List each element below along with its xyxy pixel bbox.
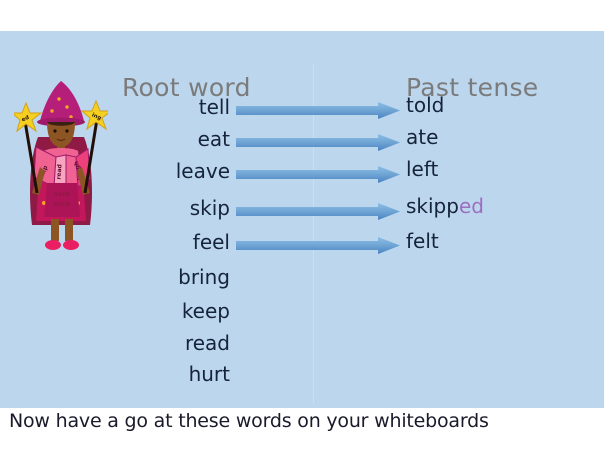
past-word-ate-stem: ate — [406, 125, 438, 149]
root-word-read: read — [110, 331, 230, 355]
arrow-leave-to-left — [236, 166, 400, 183]
root-word-leave: leave — [110, 159, 230, 183]
arrow-eat-to-ate — [236, 134, 400, 151]
root-word-feel: feel — [110, 230, 230, 254]
caption-instruction: Now have a go at these words on your whi… — [9, 410, 489, 432]
past-word-skipped-stem: skipp — [406, 194, 459, 218]
wizard-apron-label-1: Verb — [54, 190, 71, 198]
root-word-bring: bring — [110, 265, 230, 289]
past-word-left-stem: left — [406, 157, 438, 181]
root-word-keep: keep — [110, 299, 230, 323]
arrow-tell-to-told — [236, 102, 400, 119]
slide-canvas: Root word Past tense tell eat leave skip… — [0, 31, 604, 408]
wizard-card-label-read: read — [55, 164, 63, 180]
root-word-hurt: hurt — [110, 362, 230, 386]
past-word-told-stem: told — [406, 93, 444, 117]
past-word-skipped-suffix: ed — [459, 194, 484, 218]
root-word-tell: tell — [110, 95, 230, 119]
slide-frame: Root word Past tense tell eat leave skip… — [0, 0, 604, 454]
past-word-skipped: skipped — [406, 194, 484, 218]
past-word-left: left — [406, 157, 438, 181]
past-word-felt: felt — [406, 229, 439, 253]
verb-wizard-illustration: skip read laugh Verb Verb ed — [14, 75, 108, 261]
wizard-wand-star-ed: ed — [14, 103, 41, 131]
root-word-skip: skip — [110, 196, 230, 220]
arrow-skip-to-skipped — [236, 203, 400, 220]
wizard-apron-label-2: Verb — [54, 200, 71, 208]
past-word-told: told — [406, 93, 444, 117]
root-word-eat: eat — [110, 127, 230, 151]
past-word-felt-stem: felt — [406, 229, 439, 253]
past-word-ate: ate — [406, 125, 438, 149]
arrow-feel-to-felt — [236, 237, 400, 254]
